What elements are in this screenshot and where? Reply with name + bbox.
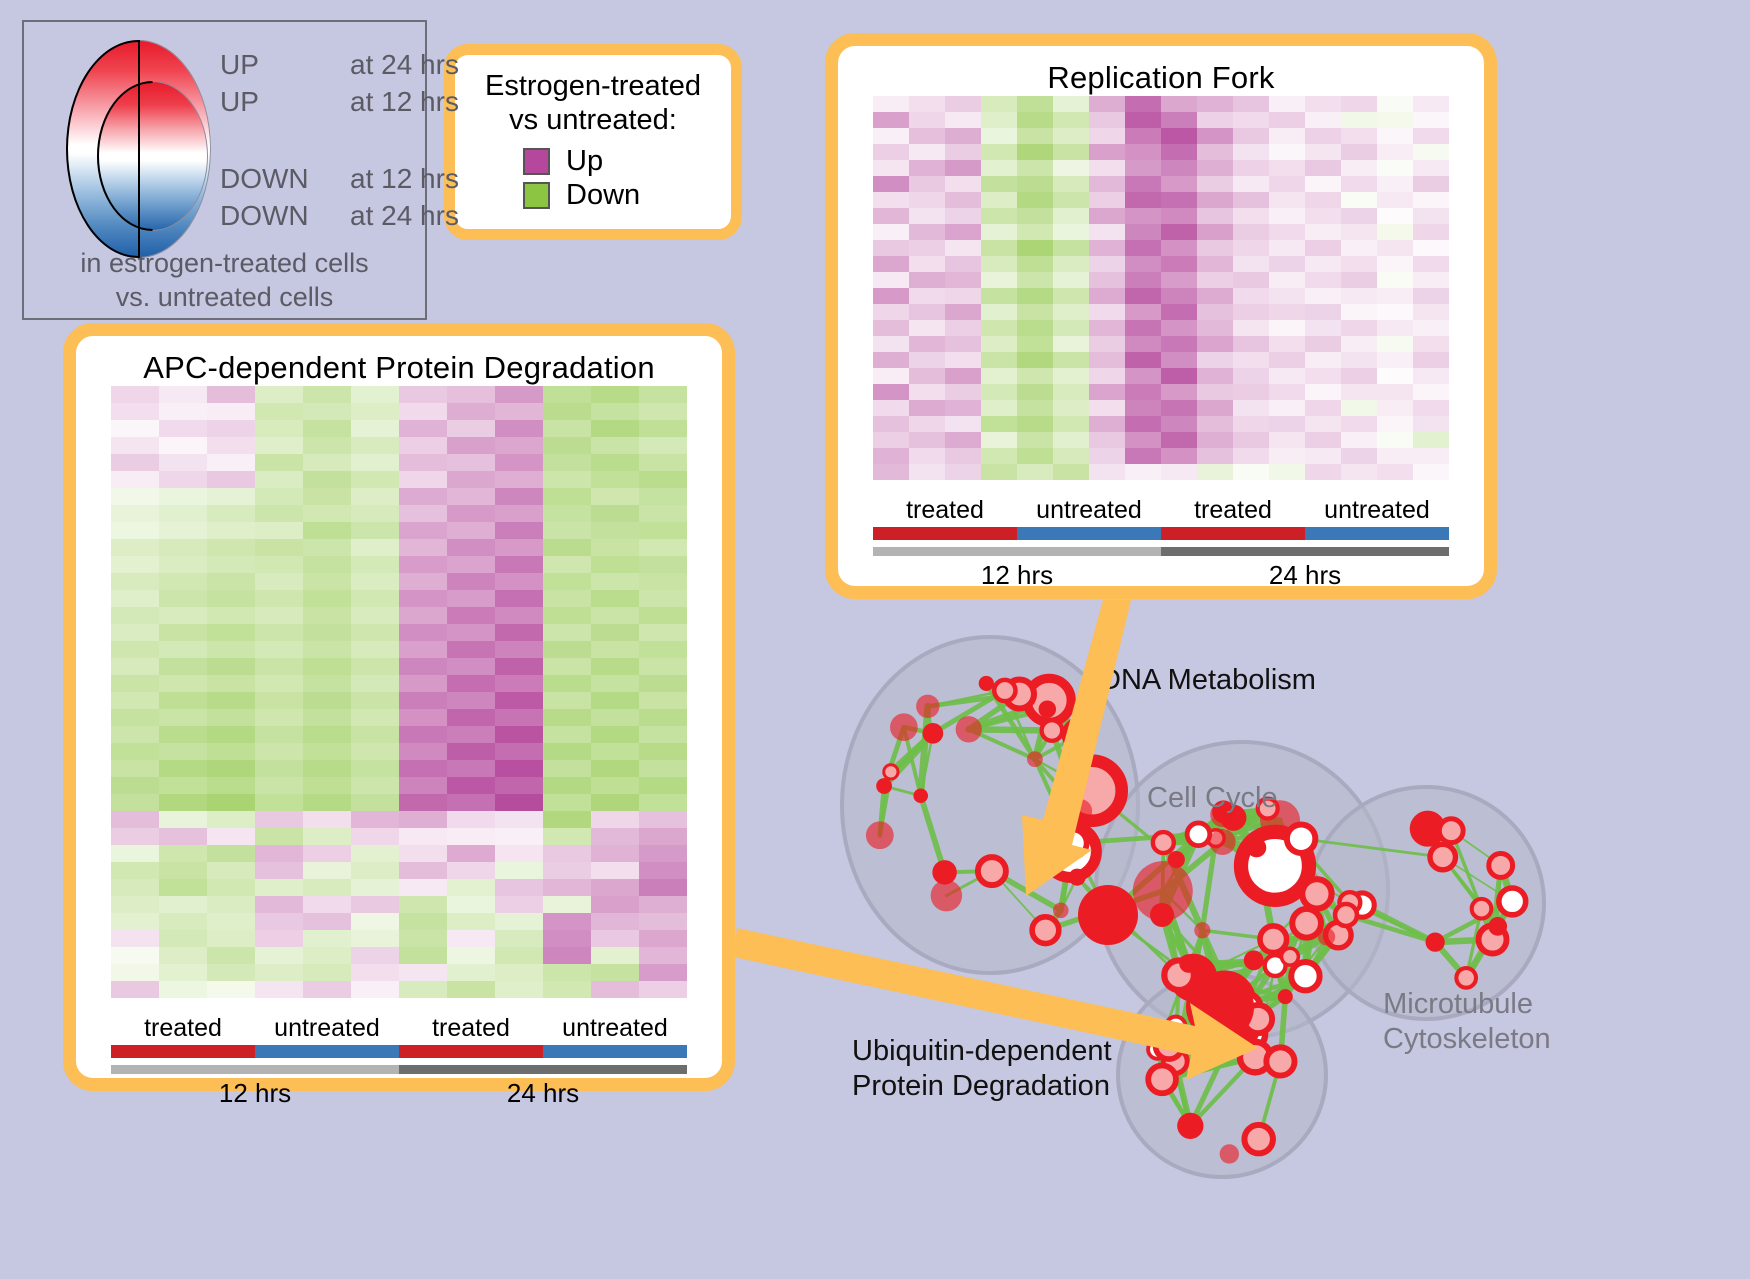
panel-title-apc-degradation: APC-dependent Protein Degradation <box>76 350 722 386</box>
heatmap-cell <box>639 556 687 573</box>
heatmap-cell <box>945 288 981 304</box>
heatmap-cell <box>1197 112 1233 128</box>
heatmap-cell <box>1305 304 1341 320</box>
heatmap-cell <box>1017 224 1053 240</box>
heatmap-cell <box>351 488 399 505</box>
heatmap-cell <box>639 981 687 998</box>
heatmap-cell <box>639 607 687 624</box>
heatmap-cell <box>1305 448 1341 464</box>
heatmap-cell <box>639 641 687 658</box>
heatmap-cell <box>303 675 351 692</box>
network-node <box>1032 917 1059 944</box>
heatmap-cell <box>591 947 639 964</box>
heatmap-cell <box>1305 224 1341 240</box>
heatmap-cell <box>1341 192 1377 208</box>
heatmap-cell <box>447 896 495 913</box>
heatmap-cell <box>1197 272 1233 288</box>
heatmap-cell <box>981 208 1017 224</box>
heatmap-cell <box>1413 208 1449 224</box>
heatmap-cell <box>873 224 909 240</box>
network-node <box>1194 922 1210 938</box>
heatmap-cell <box>399 386 447 403</box>
heatmap-cell <box>543 726 591 743</box>
network-node <box>884 765 898 779</box>
heatmap-cell <box>1197 144 1233 160</box>
heatmap-cell <box>981 176 1017 192</box>
heatmap-cell <box>1017 448 1053 464</box>
heatmap-cell <box>873 160 909 176</box>
heatmap-cell <box>159 709 207 726</box>
heatmap-cell <box>1089 176 1125 192</box>
heatmap-cell <box>909 144 945 160</box>
axis-time-segment-24hrs <box>1161 547 1449 556</box>
heatmap-cell <box>1125 400 1161 416</box>
heatmap-cell <box>207 947 255 964</box>
heatmap-cell <box>111 709 159 726</box>
heatmap-cell <box>351 947 399 964</box>
axis-group-label-1: treated <box>111 1014 255 1043</box>
network-node <box>1439 819 1463 843</box>
heatmap-cell <box>207 471 255 488</box>
heatmap-cell <box>1305 336 1341 352</box>
circle-legend-label-down24: DOWN <box>220 200 350 232</box>
heatmap-cell <box>1053 320 1089 336</box>
axis-bar-segment-treated-24 <box>1161 527 1305 540</box>
heatmap-cell <box>1269 144 1305 160</box>
heatmap-cell <box>1089 352 1125 368</box>
heatmap-cell <box>1269 160 1305 176</box>
heatmap-cell <box>159 726 207 743</box>
heatmap-cell <box>255 964 303 981</box>
heatmap-cell <box>1125 448 1161 464</box>
heatmap-cell <box>447 777 495 794</box>
heatmap-cell <box>1233 112 1269 128</box>
heatmap-cell <box>351 675 399 692</box>
heatmap-cell <box>945 144 981 160</box>
heatmap-cell <box>399 488 447 505</box>
heatmap-cell <box>981 256 1017 272</box>
circle-legend-graphic <box>66 40 211 258</box>
heatmap-cell <box>399 777 447 794</box>
heatmap-cell <box>1305 384 1341 400</box>
network-node <box>1266 1047 1294 1075</box>
heatmap-cell <box>1269 384 1305 400</box>
heatmap-cell <box>1197 288 1233 304</box>
axis-group-label-2: untreated <box>1017 496 1161 525</box>
heatmap-cell <box>981 352 1017 368</box>
heatmap-cell <box>1269 416 1305 432</box>
heatmap-cell <box>1161 192 1197 208</box>
heatmap-cell <box>1377 400 1413 416</box>
heatmap-cell <box>351 811 399 828</box>
heatmap-cell <box>351 777 399 794</box>
heatmap-cell <box>447 403 495 420</box>
heatmap-cell <box>447 590 495 607</box>
heatmap-cell <box>447 386 495 403</box>
heatmap-cell <box>981 128 1017 144</box>
heatmap-cell <box>981 96 1017 112</box>
heatmap-cell <box>1413 112 1449 128</box>
heatmap-cell <box>591 981 639 998</box>
heatmap-cell <box>1233 448 1269 464</box>
axis-time-label-12hrs: 12 hrs <box>111 1078 399 1109</box>
heatmap-cell <box>1341 432 1377 448</box>
heatmap-cell <box>1197 240 1233 256</box>
heatmap-cell <box>495 675 543 692</box>
heatmap-cell <box>399 420 447 437</box>
heatmap-cell <box>639 624 687 641</box>
heatmap-cell <box>543 981 591 998</box>
axis-time-segment-24hrs <box>399 1065 687 1074</box>
heatmap-cell <box>945 368 981 384</box>
heatmap-cell <box>1341 304 1377 320</box>
heatmap-cell <box>591 556 639 573</box>
heatmap-cell <box>207 794 255 811</box>
heatmap-cell <box>399 658 447 675</box>
heatmap-cell <box>1017 128 1053 144</box>
heatmap-cell <box>111 403 159 420</box>
heatmap-cell <box>909 384 945 400</box>
heatmap-cell <box>909 224 945 240</box>
heatmap-cell <box>255 879 303 896</box>
heatmap-cell <box>945 240 981 256</box>
network-node <box>1177 1113 1203 1139</box>
heatmap-cell <box>447 471 495 488</box>
heatmap-cell <box>399 947 447 964</box>
heatmap-cell <box>303 454 351 471</box>
heatmap-cell <box>207 913 255 930</box>
heatmap-cell <box>159 488 207 505</box>
heatmap-cell <box>639 726 687 743</box>
network-node <box>932 860 956 884</box>
heatmap-cell <box>207 539 255 556</box>
heatmap-cell <box>255 420 303 437</box>
heatmap-cell <box>207 624 255 641</box>
heatmap-cell <box>111 590 159 607</box>
network-node <box>1292 909 1321 938</box>
heatmap-cell <box>591 437 639 454</box>
heatmap-cell <box>873 384 909 400</box>
heatmap-cell <box>543 896 591 913</box>
heatmap-cell <box>351 454 399 471</box>
heatmap-cell <box>447 709 495 726</box>
heatmap-cell <box>303 964 351 981</box>
heatmap-cell <box>591 590 639 607</box>
axis-block-replication-fork: treated untreated treated untreated 12 h <box>873 496 1449 591</box>
heatmap-cell <box>255 488 303 505</box>
heatmap-cell <box>1377 448 1413 464</box>
heatmap-cell <box>159 590 207 607</box>
heatmap-cell <box>1413 272 1449 288</box>
heatmap-cell <box>1269 224 1305 240</box>
heatmap-cell <box>909 320 945 336</box>
heatmap-cell <box>1053 464 1089 480</box>
heatmap-cell <box>255 913 303 930</box>
heatmap-cell <box>1233 96 1269 112</box>
heatmap-cell <box>639 420 687 437</box>
heatmap-cell <box>159 471 207 488</box>
heatmap-cell <box>351 743 399 760</box>
heatmap-cell <box>255 675 303 692</box>
heatmap-cell <box>351 505 399 522</box>
heatmap-cell <box>1125 368 1161 384</box>
heatmap-cell <box>543 692 591 709</box>
heatmap-cell <box>351 573 399 590</box>
heatmap-cell <box>495 879 543 896</box>
heatmap-cell <box>1161 448 1197 464</box>
heatmap-cell <box>1377 336 1413 352</box>
heatmap-cell <box>495 743 543 760</box>
heatmap-cell <box>111 913 159 930</box>
heatmap-cell <box>981 336 1017 352</box>
panel-title-replication-fork: Replication Fork <box>838 60 1484 96</box>
heatmap-cell <box>543 743 591 760</box>
heatmap-cell <box>1161 368 1197 384</box>
heatmap-cell <box>1161 176 1197 192</box>
heatmap-cell <box>1161 320 1197 336</box>
heatmap-cell <box>639 675 687 692</box>
heatmap-cell <box>495 641 543 658</box>
heatmap-cell <box>1305 128 1341 144</box>
heatmap-cell <box>873 192 909 208</box>
heatmap-cell <box>447 947 495 964</box>
network-node <box>1186 973 1254 1041</box>
heatmap-cell <box>303 403 351 420</box>
circle-legend-label-up12: UP <box>220 86 350 118</box>
heatmap-cell <box>1161 112 1197 128</box>
heatmap-cell <box>1269 448 1305 464</box>
heatmap-cell <box>1341 320 1377 336</box>
heatmap-cell <box>1269 464 1305 480</box>
heatmap-cell <box>1089 416 1125 432</box>
heatmap-cell <box>159 760 207 777</box>
heatmap-cell <box>981 240 1017 256</box>
heatmap-cell <box>591 964 639 981</box>
heatmap-cell <box>1305 288 1341 304</box>
heatmap-cell <box>1305 160 1341 176</box>
heatmap-cell <box>981 416 1017 432</box>
legend-item-down: Down <box>523 178 731 212</box>
heatmap-cell <box>1089 192 1125 208</box>
heatmap-cell <box>639 828 687 845</box>
heatmap-cell <box>945 416 981 432</box>
updown-legend-items: Up Down <box>455 144 731 212</box>
heatmap-cell <box>591 641 639 658</box>
heatmap-cell <box>639 930 687 947</box>
heatmap-cell <box>909 304 945 320</box>
heatmap-cell <box>1017 384 1053 400</box>
heatmap-cell <box>303 862 351 879</box>
heatmap-cell <box>495 981 543 998</box>
circle-legend-footer: in estrogen-treated cells vs. untreated … <box>24 247 425 315</box>
heatmap-cell <box>447 726 495 743</box>
heatmap-cell <box>873 112 909 128</box>
heatmap-cell <box>255 947 303 964</box>
heatmap-cell <box>255 930 303 947</box>
network-node <box>1472 899 1492 919</box>
heatmap-cell <box>543 590 591 607</box>
heatmap-cell <box>1017 144 1053 160</box>
heatmap-cell <box>255 743 303 760</box>
heatmap-cell <box>1161 352 1197 368</box>
heatmap-cell <box>1305 464 1341 480</box>
heatmap-cell <box>1269 192 1305 208</box>
heatmap-cell <box>1125 352 1161 368</box>
heatmap-cell <box>1089 368 1125 384</box>
heatmap-cell <box>207 573 255 590</box>
heatmap-cell <box>495 454 543 471</box>
heatmap-cell <box>159 794 207 811</box>
heatmap-cell <box>909 432 945 448</box>
heatmap-cell <box>495 607 543 624</box>
axis-group-colorbar-replication-fork <box>873 527 1449 540</box>
heatmap-cell <box>1305 432 1341 448</box>
heatmap-cell <box>1125 336 1161 352</box>
heatmap-cell <box>399 692 447 709</box>
heatmap-cell <box>399 573 447 590</box>
heatmap-cell <box>159 386 207 403</box>
heatmap-cell <box>447 981 495 998</box>
heatmap-cell <box>255 981 303 998</box>
heatmap-cell <box>351 556 399 573</box>
heatmap-cell <box>495 386 543 403</box>
cluster-label-ubiquitin-degradation: Ubiquitin-dependent Protein Degradation <box>852 1034 1112 1104</box>
heatmap-cell <box>303 930 351 947</box>
heatmap-cell <box>399 794 447 811</box>
heatmap-cell <box>1125 144 1161 160</box>
heatmap-cell <box>303 437 351 454</box>
heatmap-cell <box>255 709 303 726</box>
heatmap-cell <box>1053 160 1089 176</box>
heatmap-cell <box>351 386 399 403</box>
heatmap-cell <box>351 726 399 743</box>
heatmap-cell <box>399 964 447 981</box>
heatmap-cell <box>945 208 981 224</box>
heatmap-cell <box>591 777 639 794</box>
heatmap-cell <box>1233 192 1269 208</box>
heatmap-cell <box>495 913 543 930</box>
heatmap-cell <box>447 760 495 777</box>
heatmap-cell <box>351 794 399 811</box>
heatmap-cell <box>351 981 399 998</box>
heatmap-cell <box>1161 256 1197 272</box>
heatmap-cell <box>255 454 303 471</box>
heatmap-cell <box>111 777 159 794</box>
heatmap-cell <box>495 811 543 828</box>
heatmap-cell <box>1269 208 1305 224</box>
heatmap-cell <box>447 845 495 862</box>
heatmap-cell <box>543 947 591 964</box>
heatmap-cell <box>1197 336 1233 352</box>
heatmap-cell <box>1125 304 1161 320</box>
heatmap-cell <box>1341 272 1377 288</box>
heatmap-cell <box>1305 112 1341 128</box>
heatmap-cell <box>591 658 639 675</box>
heatmap-cell <box>639 454 687 471</box>
heatmap-cell <box>255 845 303 862</box>
up-color-swatch <box>523 148 550 175</box>
heatmap-cell <box>399 624 447 641</box>
heatmap-cell <box>1125 128 1161 144</box>
heatmap-cell <box>351 964 399 981</box>
heatmap-cell <box>945 320 981 336</box>
heatmap-cell <box>591 522 639 539</box>
heatmap-cell <box>303 522 351 539</box>
heatmap-cell <box>1089 464 1125 480</box>
heatmap-cell <box>1305 192 1341 208</box>
heatmap-cell <box>351 420 399 437</box>
heatmap-cell <box>591 488 639 505</box>
heatmap-cell <box>1341 176 1377 192</box>
cluster-label-dna-metabolism: DNA Metabolism <box>1100 663 1316 698</box>
heatmap-cell <box>159 624 207 641</box>
heatmap-cell <box>909 96 945 112</box>
heatmap-cell <box>1125 240 1161 256</box>
heatmap-cell <box>1413 128 1449 144</box>
heatmap-cell <box>399 505 447 522</box>
heatmap-cell <box>303 760 351 777</box>
heatmap-cell <box>303 539 351 556</box>
heatmap-cell <box>873 176 909 192</box>
heatmap-cell <box>399 437 447 454</box>
heatmap-cell <box>495 947 543 964</box>
network-node <box>1247 838 1267 858</box>
heatmap-cell <box>111 624 159 641</box>
heatmap-cell <box>1377 352 1413 368</box>
axis-time-labels-apc: 12 hrs 24 hrs <box>111 1078 687 1109</box>
heatmap-cell <box>303 386 351 403</box>
heatmap-cell <box>1161 208 1197 224</box>
heatmap-cell <box>1053 256 1089 272</box>
heatmap-cell <box>1125 416 1161 432</box>
heatmap-cell <box>1413 416 1449 432</box>
heatmap-cell <box>399 641 447 658</box>
heatmap-cell <box>207 454 255 471</box>
circle-legend-footer-line1: in estrogen-treated cells <box>24 247 425 281</box>
heatmap-cell <box>1341 208 1377 224</box>
heatmap-cell <box>159 454 207 471</box>
heatmap-cell <box>945 96 981 112</box>
heatmap-cell <box>639 862 687 879</box>
heatmap-cell <box>351 641 399 658</box>
heatmap-cell <box>1269 352 1305 368</box>
heatmap-cell <box>1053 96 1089 112</box>
heatmap-cell <box>207 777 255 794</box>
heatmap-cell <box>639 505 687 522</box>
heatmap-cell <box>1413 368 1449 384</box>
heatmap-cell <box>1089 144 1125 160</box>
heatmap-cell <box>909 448 945 464</box>
heatmap-cell <box>351 471 399 488</box>
heatmap-cell <box>399 556 447 573</box>
heatmap-cell <box>909 128 945 144</box>
heatmap-cell <box>543 505 591 522</box>
heatmap-cell <box>945 176 981 192</box>
heatmap-cell <box>1197 224 1233 240</box>
axis-group-labels-apc: treated untreated treated untreated <box>111 1014 687 1043</box>
heatmap-cell <box>111 505 159 522</box>
heatmap-cell <box>1233 144 1269 160</box>
network-node <box>978 857 1006 885</box>
heatmap-cell <box>639 947 687 964</box>
axis-group-label-4: untreated <box>1305 496 1449 525</box>
heatmap-cell <box>1377 432 1413 448</box>
heatmap-cell <box>159 505 207 522</box>
heatmap-cell <box>1341 128 1377 144</box>
heatmap-cell <box>111 437 159 454</box>
heatmap-cell <box>591 471 639 488</box>
heatmap-cell <box>1233 320 1269 336</box>
